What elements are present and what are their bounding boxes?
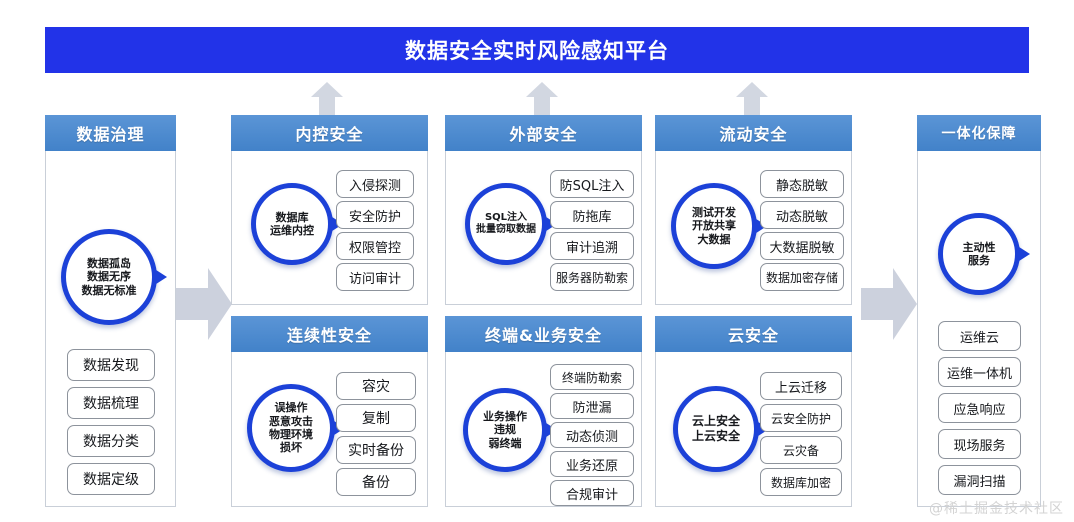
bubble-text-flow: 测试开发 开放共享 大数据 bbox=[671, 183, 757, 269]
bubble-line: 大数据 bbox=[698, 233, 731, 246]
panel-external-security[interactable]: 外部安全 SQL注入 批量窃取数据 防SQL注入 防拖库 审计追溯 服务器防勒索 bbox=[445, 115, 642, 305]
pill-continuity-4[interactable]: 备份 bbox=[336, 468, 416, 496]
panel-body-data-governance: 数据孤岛 数据无序 数据无标准 数据发现 数据梳理 数据分类 数据定级 bbox=[46, 151, 175, 505]
pill-cloud-4[interactable]: 数据库加密 bbox=[760, 468, 842, 496]
pill-assurance-1[interactable]: 运维云 bbox=[938, 321, 1021, 351]
bubble-line: 物理环境 bbox=[269, 428, 313, 441]
pill-external-2[interactable]: 防拖库 bbox=[550, 201, 634, 229]
pill-cloud-3[interactable]: 云灾备 bbox=[760, 436, 842, 464]
pill-continuity-1[interactable]: 容灾 bbox=[336, 372, 416, 400]
panel-header-data-governance: 数据治理 bbox=[45, 115, 176, 151]
pill-endpoint-5[interactable]: 合规审计 bbox=[550, 480, 634, 506]
pill-inner-control-4[interactable]: 访问审计 bbox=[336, 263, 414, 291]
pill-flow-2[interactable]: 动态脱敏 bbox=[760, 201, 844, 229]
bubble-text-assurance: 主动性 服务 bbox=[938, 213, 1020, 295]
bubble-line: 开放共享 bbox=[692, 219, 736, 232]
right-arrow-core-to-assurance bbox=[861, 268, 917, 340]
bubble-external[interactable]: SQL注入 批量窃取数据 bbox=[465, 183, 547, 265]
panel-header-assurance: 一体化保障 bbox=[917, 115, 1041, 151]
pill-endpoint-1[interactable]: 终端防勒索 bbox=[550, 364, 634, 390]
bubble-line: 云上安全 bbox=[692, 414, 740, 429]
panel-title-endpoint-business: 终端&业务安全 bbox=[485, 322, 602, 346]
up-arrow-flow bbox=[735, 82, 769, 118]
bubble-line: 恶意攻击 bbox=[269, 415, 313, 428]
panel-header-inner-control: 内控安全 bbox=[231, 115, 428, 151]
bubble-line: 损坏 bbox=[280, 441, 302, 454]
bubble-inner-control[interactable]: 数据库 运维内控 bbox=[251, 183, 333, 265]
pill-inner-control-2[interactable]: 安全防护 bbox=[336, 201, 414, 229]
bubble-data-governance[interactable]: 数据孤岛 数据无序 数据无标准 bbox=[61, 229, 157, 325]
panel-body-inner-control: 数据库 运维内控 入侵探测 安全防护 权限管控 访问审计 bbox=[232, 151, 427, 303]
panel-header-continuity: 连续性安全 bbox=[231, 316, 428, 352]
pill-flow-3[interactable]: 大数据脱敏 bbox=[760, 232, 844, 260]
pill-external-3[interactable]: 审计追溯 bbox=[550, 232, 634, 260]
panel-flow-security[interactable]: 流动安全 测试开发 开放共享 大数据 静态脱敏 动态脱敏 大数据脱敏 数据加密存… bbox=[655, 115, 852, 305]
bubble-endpoint-business[interactable]: 业务操作 违规 弱终端 bbox=[463, 388, 547, 472]
panel-body-continuity: 误操作 恶意攻击 物理环境 损坏 容灾 复制 实时备份 备份 bbox=[232, 352, 427, 505]
panel-integrated-assurance[interactable]: 一体化保障 主动性 服务 运维云 运维一体机 应急响应 现场服务 漏洞扫描 bbox=[917, 115, 1041, 507]
bubble-line: 弱终端 bbox=[489, 437, 522, 450]
bubble-assurance[interactable]: 主动性 服务 bbox=[938, 213, 1020, 295]
pill-inner-control-3[interactable]: 权限管控 bbox=[336, 232, 414, 260]
bubble-line: 服务 bbox=[968, 254, 990, 267]
pill-assurance-4[interactable]: 现场服务 bbox=[938, 429, 1021, 459]
panel-endpoint-business-security[interactable]: 终端&业务安全 业务操作 违规 弱终端 终端防勒索 防泄漏 动态侦测 业务还原 … bbox=[445, 316, 642, 507]
pill-assurance-5[interactable]: 漏洞扫描 bbox=[938, 465, 1021, 495]
bubble-line: 数据孤岛 bbox=[87, 257, 131, 270]
pill-governance-2[interactable]: 数据梳理 bbox=[67, 387, 155, 419]
bubble-line: 误操作 bbox=[275, 401, 308, 414]
panel-title-assurance: 一体化保障 bbox=[942, 123, 1017, 143]
bubble-line: SQL注入 bbox=[485, 212, 527, 224]
pill-assurance-2[interactable]: 运维一体机 bbox=[938, 357, 1021, 387]
bubble-text-data-governance: 数据孤岛 数据无序 数据无标准 bbox=[61, 229, 157, 325]
bubble-flow[interactable]: 测试开发 开放共享 大数据 bbox=[671, 183, 757, 269]
panel-body-cloud: 云上安全 上云安全 上云迁移 云安全防护 云灾备 数据库加密 bbox=[656, 352, 851, 505]
bubble-line: 违规 bbox=[494, 423, 516, 436]
panel-header-endpoint-business: 终端&业务安全 bbox=[445, 316, 642, 352]
pill-assurance-3[interactable]: 应急响应 bbox=[938, 393, 1021, 423]
pill-external-4[interactable]: 服务器防勒索 bbox=[550, 263, 634, 291]
bubble-line: 运维内控 bbox=[270, 224, 314, 237]
bubble-line: 上云安全 bbox=[692, 429, 740, 444]
pill-endpoint-2[interactable]: 防泄漏 bbox=[550, 393, 634, 419]
up-arrow-inner-control bbox=[310, 82, 344, 118]
pill-cloud-1[interactable]: 上云迁移 bbox=[760, 372, 842, 400]
pill-endpoint-3[interactable]: 动态侦测 bbox=[550, 422, 634, 448]
pill-external-1[interactable]: 防SQL注入 bbox=[550, 170, 634, 198]
panel-body-assurance: 主动性 服务 运维云 运维一体机 应急响应 现场服务 漏洞扫描 bbox=[918, 151, 1040, 505]
bubble-text-continuity: 误操作 恶意攻击 物理环境 损坏 bbox=[247, 384, 335, 472]
panel-header-cloud: 云安全 bbox=[655, 316, 852, 352]
panel-title-inner-control: 内控安全 bbox=[295, 121, 363, 145]
panel-data-governance[interactable]: 数据治理 数据孤岛 数据无序 数据无标准 数据发现 数据梳理 数据分类 数据定级 bbox=[45, 115, 176, 507]
bubble-text-cloud: 云上安全 上云安全 bbox=[673, 386, 759, 472]
bubble-cloud[interactable]: 云上安全 上云安全 bbox=[673, 386, 759, 472]
panel-body-external: SQL注入 批量窃取数据 防SQL注入 防拖库 审计追溯 服务器防勒索 bbox=[446, 151, 641, 303]
panel-title-continuity: 连续性安全 bbox=[287, 322, 372, 346]
pill-cloud-2[interactable]: 云安全防护 bbox=[760, 404, 842, 432]
pill-governance-1[interactable]: 数据发现 bbox=[67, 349, 155, 381]
bubble-continuity[interactable]: 误操作 恶意攻击 物理环境 损坏 bbox=[247, 384, 335, 472]
pill-governance-4[interactable]: 数据定级 bbox=[67, 463, 155, 495]
pill-continuity-3[interactable]: 实时备份 bbox=[336, 436, 416, 464]
watermark: @稀土掘金技术社区 bbox=[929, 498, 1064, 518]
pill-continuity-2[interactable]: 复制 bbox=[336, 404, 416, 432]
panel-header-flow: 流动安全 bbox=[655, 115, 852, 151]
platform-banner: 数据安全实时风险感知平台 bbox=[45, 27, 1029, 73]
bubble-line: 测试开发 bbox=[692, 206, 736, 219]
panel-title-external: 外部安全 bbox=[509, 121, 577, 145]
platform-title: 数据安全实时风险感知平台 bbox=[405, 35, 669, 65]
pill-flow-1[interactable]: 静态脱敏 bbox=[760, 170, 844, 198]
panel-inner-control-security[interactable]: 内控安全 数据库 运维内控 入侵探测 安全防护 权限管控 访问审计 bbox=[231, 115, 428, 305]
panel-header-external: 外部安全 bbox=[445, 115, 642, 151]
pill-endpoint-4[interactable]: 业务还原 bbox=[550, 451, 634, 477]
pill-inner-control-1[interactable]: 入侵探测 bbox=[336, 170, 414, 198]
bubble-text-inner-control: 数据库 运维内控 bbox=[251, 183, 333, 265]
panel-title-cloud: 云安全 bbox=[728, 322, 779, 346]
panel-cloud-security[interactable]: 云安全 云上安全 上云安全 上云迁移 云安全防护 云灾备 数据库加密 bbox=[655, 316, 852, 507]
panel-continuity-security[interactable]: 连续性安全 误操作 恶意攻击 物理环境 损坏 容灾 复制 实时备份 备份 bbox=[231, 316, 428, 507]
up-arrow-external bbox=[525, 82, 559, 118]
bubble-line: 业务操作 bbox=[483, 410, 527, 423]
panel-body-endpoint-business: 业务操作 违规 弱终端 终端防勒索 防泄漏 动态侦测 业务还原 合规审计 bbox=[446, 352, 641, 505]
diagram-canvas: 数据安全实时风险感知平台 数据治理 数据孤岛 数据无序 数据无标准 bbox=[0, 0, 1074, 522]
panel-body-flow: 测试开发 开放共享 大数据 静态脱敏 动态脱敏 大数据脱敏 数据加密存储 bbox=[656, 151, 851, 303]
pill-governance-3[interactable]: 数据分类 bbox=[67, 425, 155, 457]
bubble-line: 批量窃取数据 bbox=[476, 224, 536, 236]
panel-title-data-governance: 数据治理 bbox=[76, 121, 144, 145]
bubble-line: 数据无标准 bbox=[82, 284, 137, 297]
bubble-text-endpoint-business: 业务操作 违规 弱终端 bbox=[463, 388, 547, 472]
right-arrow-governance-to-core bbox=[176, 268, 232, 340]
bubble-text-external: SQL注入 批量窃取数据 bbox=[465, 183, 547, 265]
pill-flow-4[interactable]: 数据加密存储 bbox=[760, 263, 844, 291]
panel-title-flow: 流动安全 bbox=[719, 121, 787, 145]
bubble-line: 数据无序 bbox=[87, 270, 131, 283]
bubble-line: 主动性 bbox=[963, 241, 996, 254]
bubble-line: 数据库 bbox=[276, 211, 309, 224]
